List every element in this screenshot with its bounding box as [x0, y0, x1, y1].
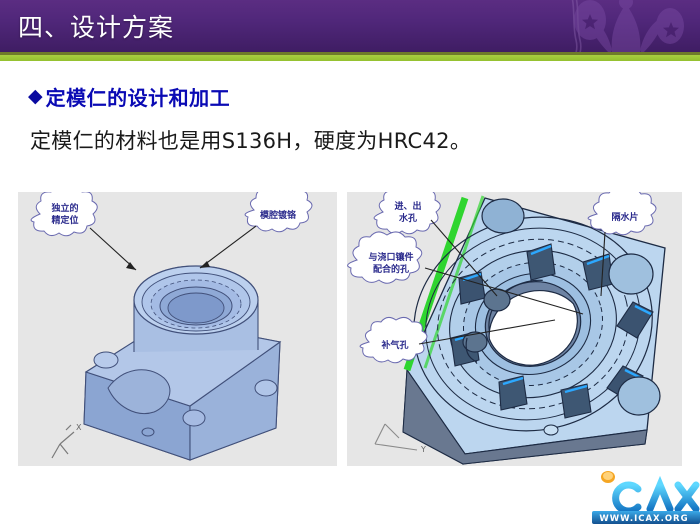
figure-left: X 独立的 精定位 模腔镀铬: [18, 192, 337, 466]
body-paragraph: 定模仁的材料也是用S136H，硬度为HRC42。: [30, 125, 471, 155]
callout-right-2-line1: 与浇口镶件: [368, 251, 413, 263]
page-title: 四、设计方案: [18, 8, 174, 44]
callout-right-1-line1: 进、出: [394, 200, 421, 212]
figure-right: Y 进、出 水孔 与浇口镶件 配合的孔: [347, 192, 682, 466]
slide-root: 四、设计方案 ◆ 定模仁的设计和加工 定模仁的材料也是用S136H，硬度为HRC…: [0, 0, 700, 525]
callout-right-4-line1: 隔水片: [611, 211, 638, 223]
axis-label-y: Y: [420, 445, 426, 454]
water-hole-1: [484, 289, 510, 311]
logo-url-text: WWW.ICAX.ORG: [599, 514, 688, 524]
callout-right-2-line2: 配合的孔: [373, 263, 409, 275]
diamond-bullet-icon: ◆: [28, 87, 43, 106]
slide-header: 四、设计方案: [0, 0, 700, 52]
callout-left-1-line1: 独立的: [50, 202, 78, 214]
axis-label-x: X: [76, 423, 82, 432]
section-heading: ◆ 定模仁的设计和加工: [28, 82, 230, 111]
section-heading-label: 定模仁的设计和加工: [46, 82, 231, 111]
callout-left-2-line1: 模腔镀铬: [260, 209, 297, 221]
icax-logo[interactable]: iCAX WWW.ICAX.ORG: [592, 463, 700, 525]
fleur-de-lis-watermark-icon: [550, 0, 700, 52]
header-green-rule: [0, 55, 700, 61]
callout-left-1-line2: 精定位: [51, 214, 78, 226]
callout-right-3-line1: 补气孔: [380, 339, 408, 351]
figure-row: X 独立的 精定位 模腔镀铬: [0, 192, 700, 467]
callout-right-1-line2: 水孔: [399, 212, 417, 224]
